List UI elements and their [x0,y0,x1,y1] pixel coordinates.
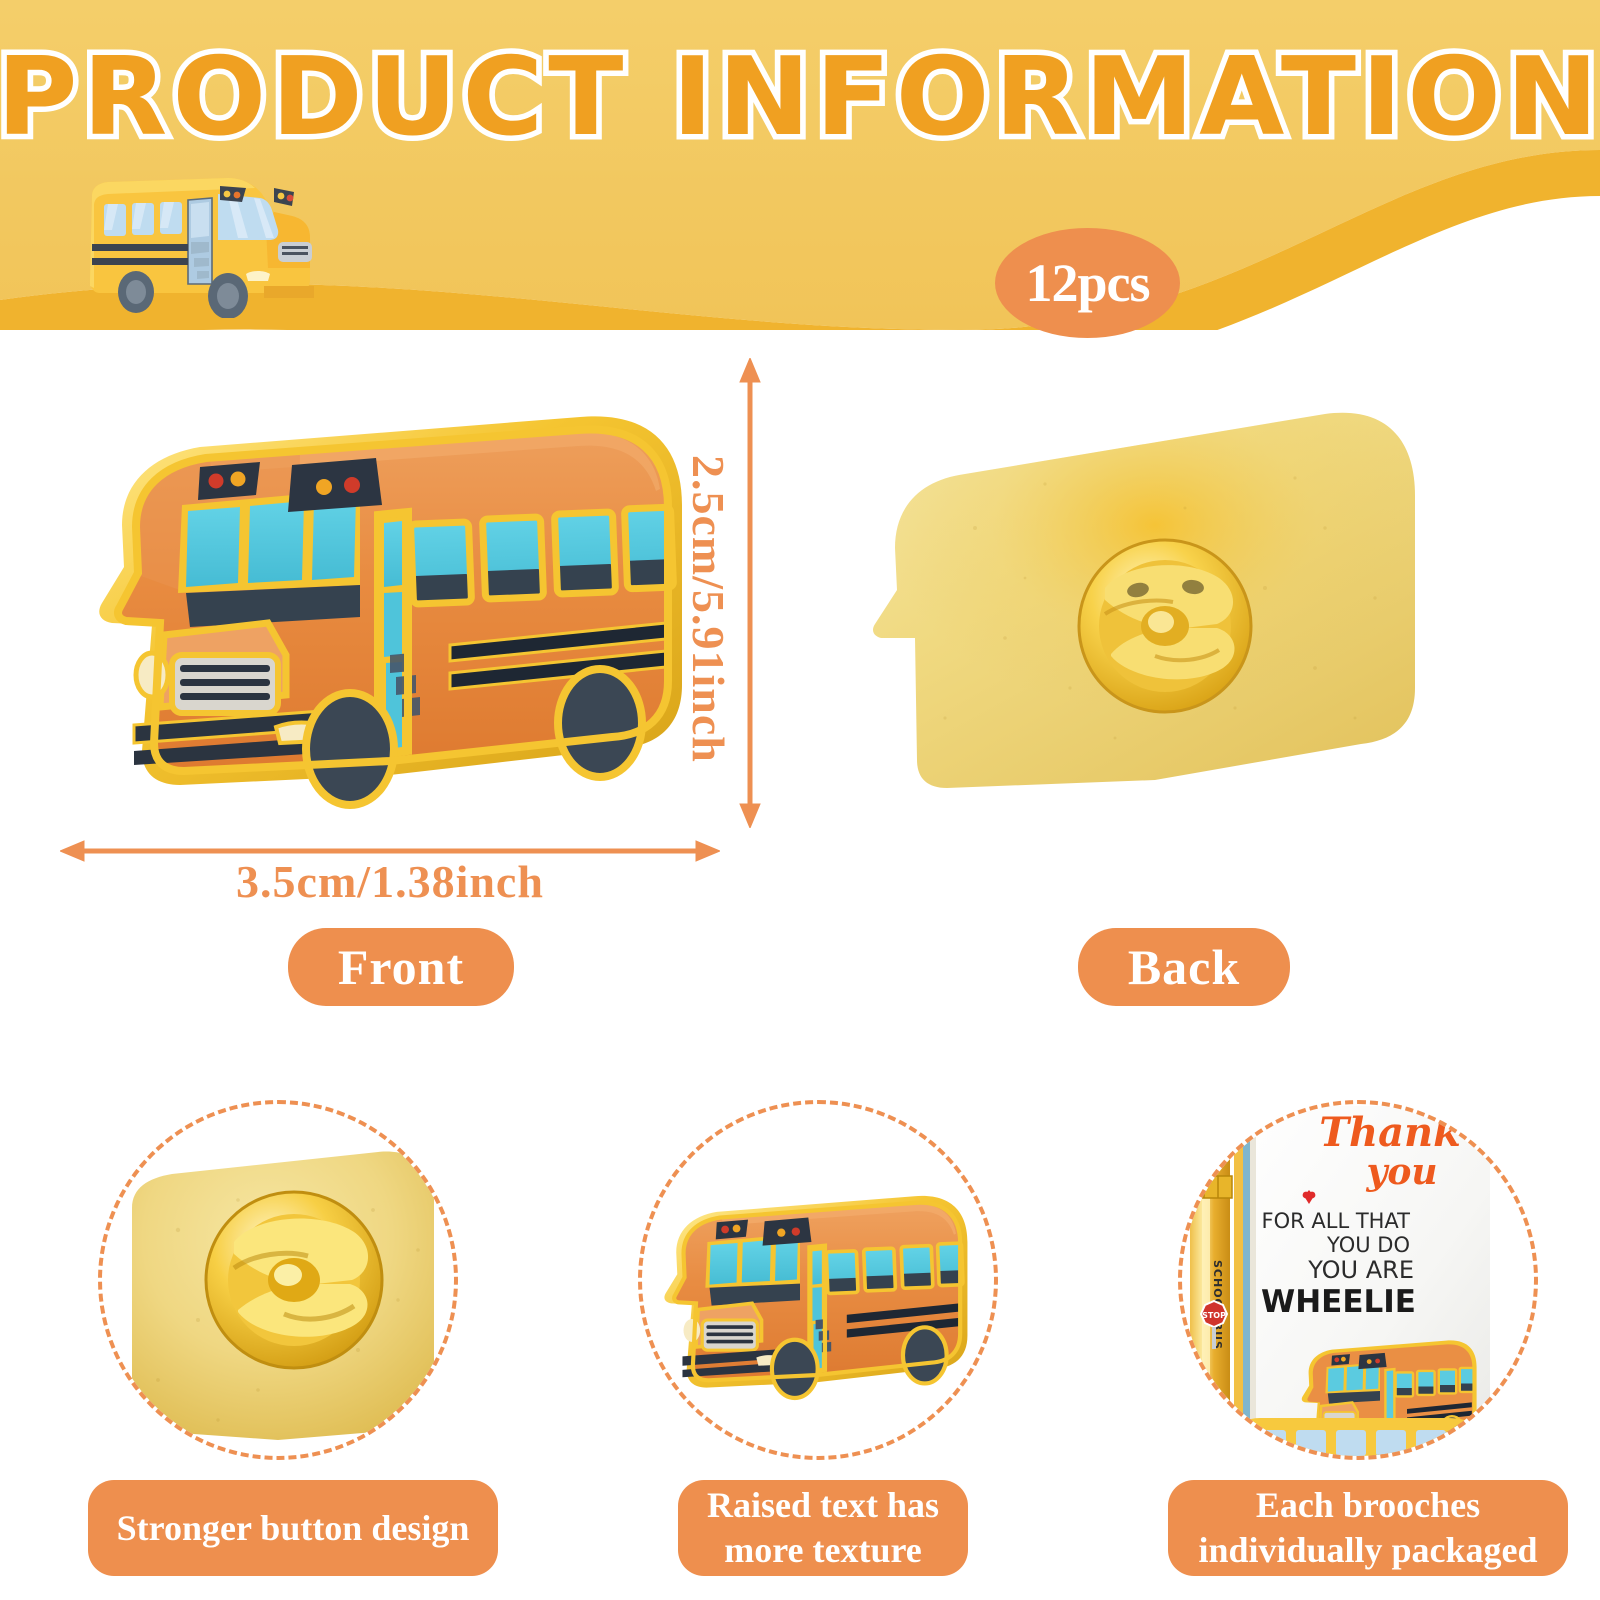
front-view-label: Front [288,928,514,1006]
front-pin-artwork [60,355,720,825]
feature-dashed-circle [98,1100,458,1460]
feature-caption-line1: Raised text has [707,1485,939,1525]
dimension-width-label: 3.5cm/1.38inch [60,855,720,908]
feature-dashed-circle [638,1100,998,1460]
feature-dashed-circle [1178,1100,1538,1460]
feature-caption-line2: individually packaged [1198,1530,1537,1570]
feature-individual-packaging: SCHOOL BUS STOP Thank you FOR ALL THAT Y… [1178,1100,1538,1600]
quantity-badge-label: 12pcs [1025,252,1149,314]
feature-stronger-button: Stronger button design [98,1100,458,1600]
dimension-height-label: 2.5cm/5.91inch [682,455,735,763]
feature-caption-line1: Each brooches [1256,1485,1480,1525]
page-title: PRODUCT INFORMATION [0,38,1600,158]
back-view-label: Back [1078,928,1290,1006]
feature-raised-text: Raised text has more texture [638,1100,998,1600]
quantity-badge: 12pcs [995,228,1180,338]
back-pin-artwork [855,388,1455,858]
feature-caption: Stronger button design [88,1480,498,1576]
school-bus-icon [78,168,328,318]
feature-caption: Raised text has more texture [678,1480,968,1576]
feature-caption-line2: more texture [724,1530,922,1570]
feature-caption: Each brooches individually packaged [1168,1480,1568,1576]
header-banner: PRODUCT INFORMATION [0,0,1600,330]
